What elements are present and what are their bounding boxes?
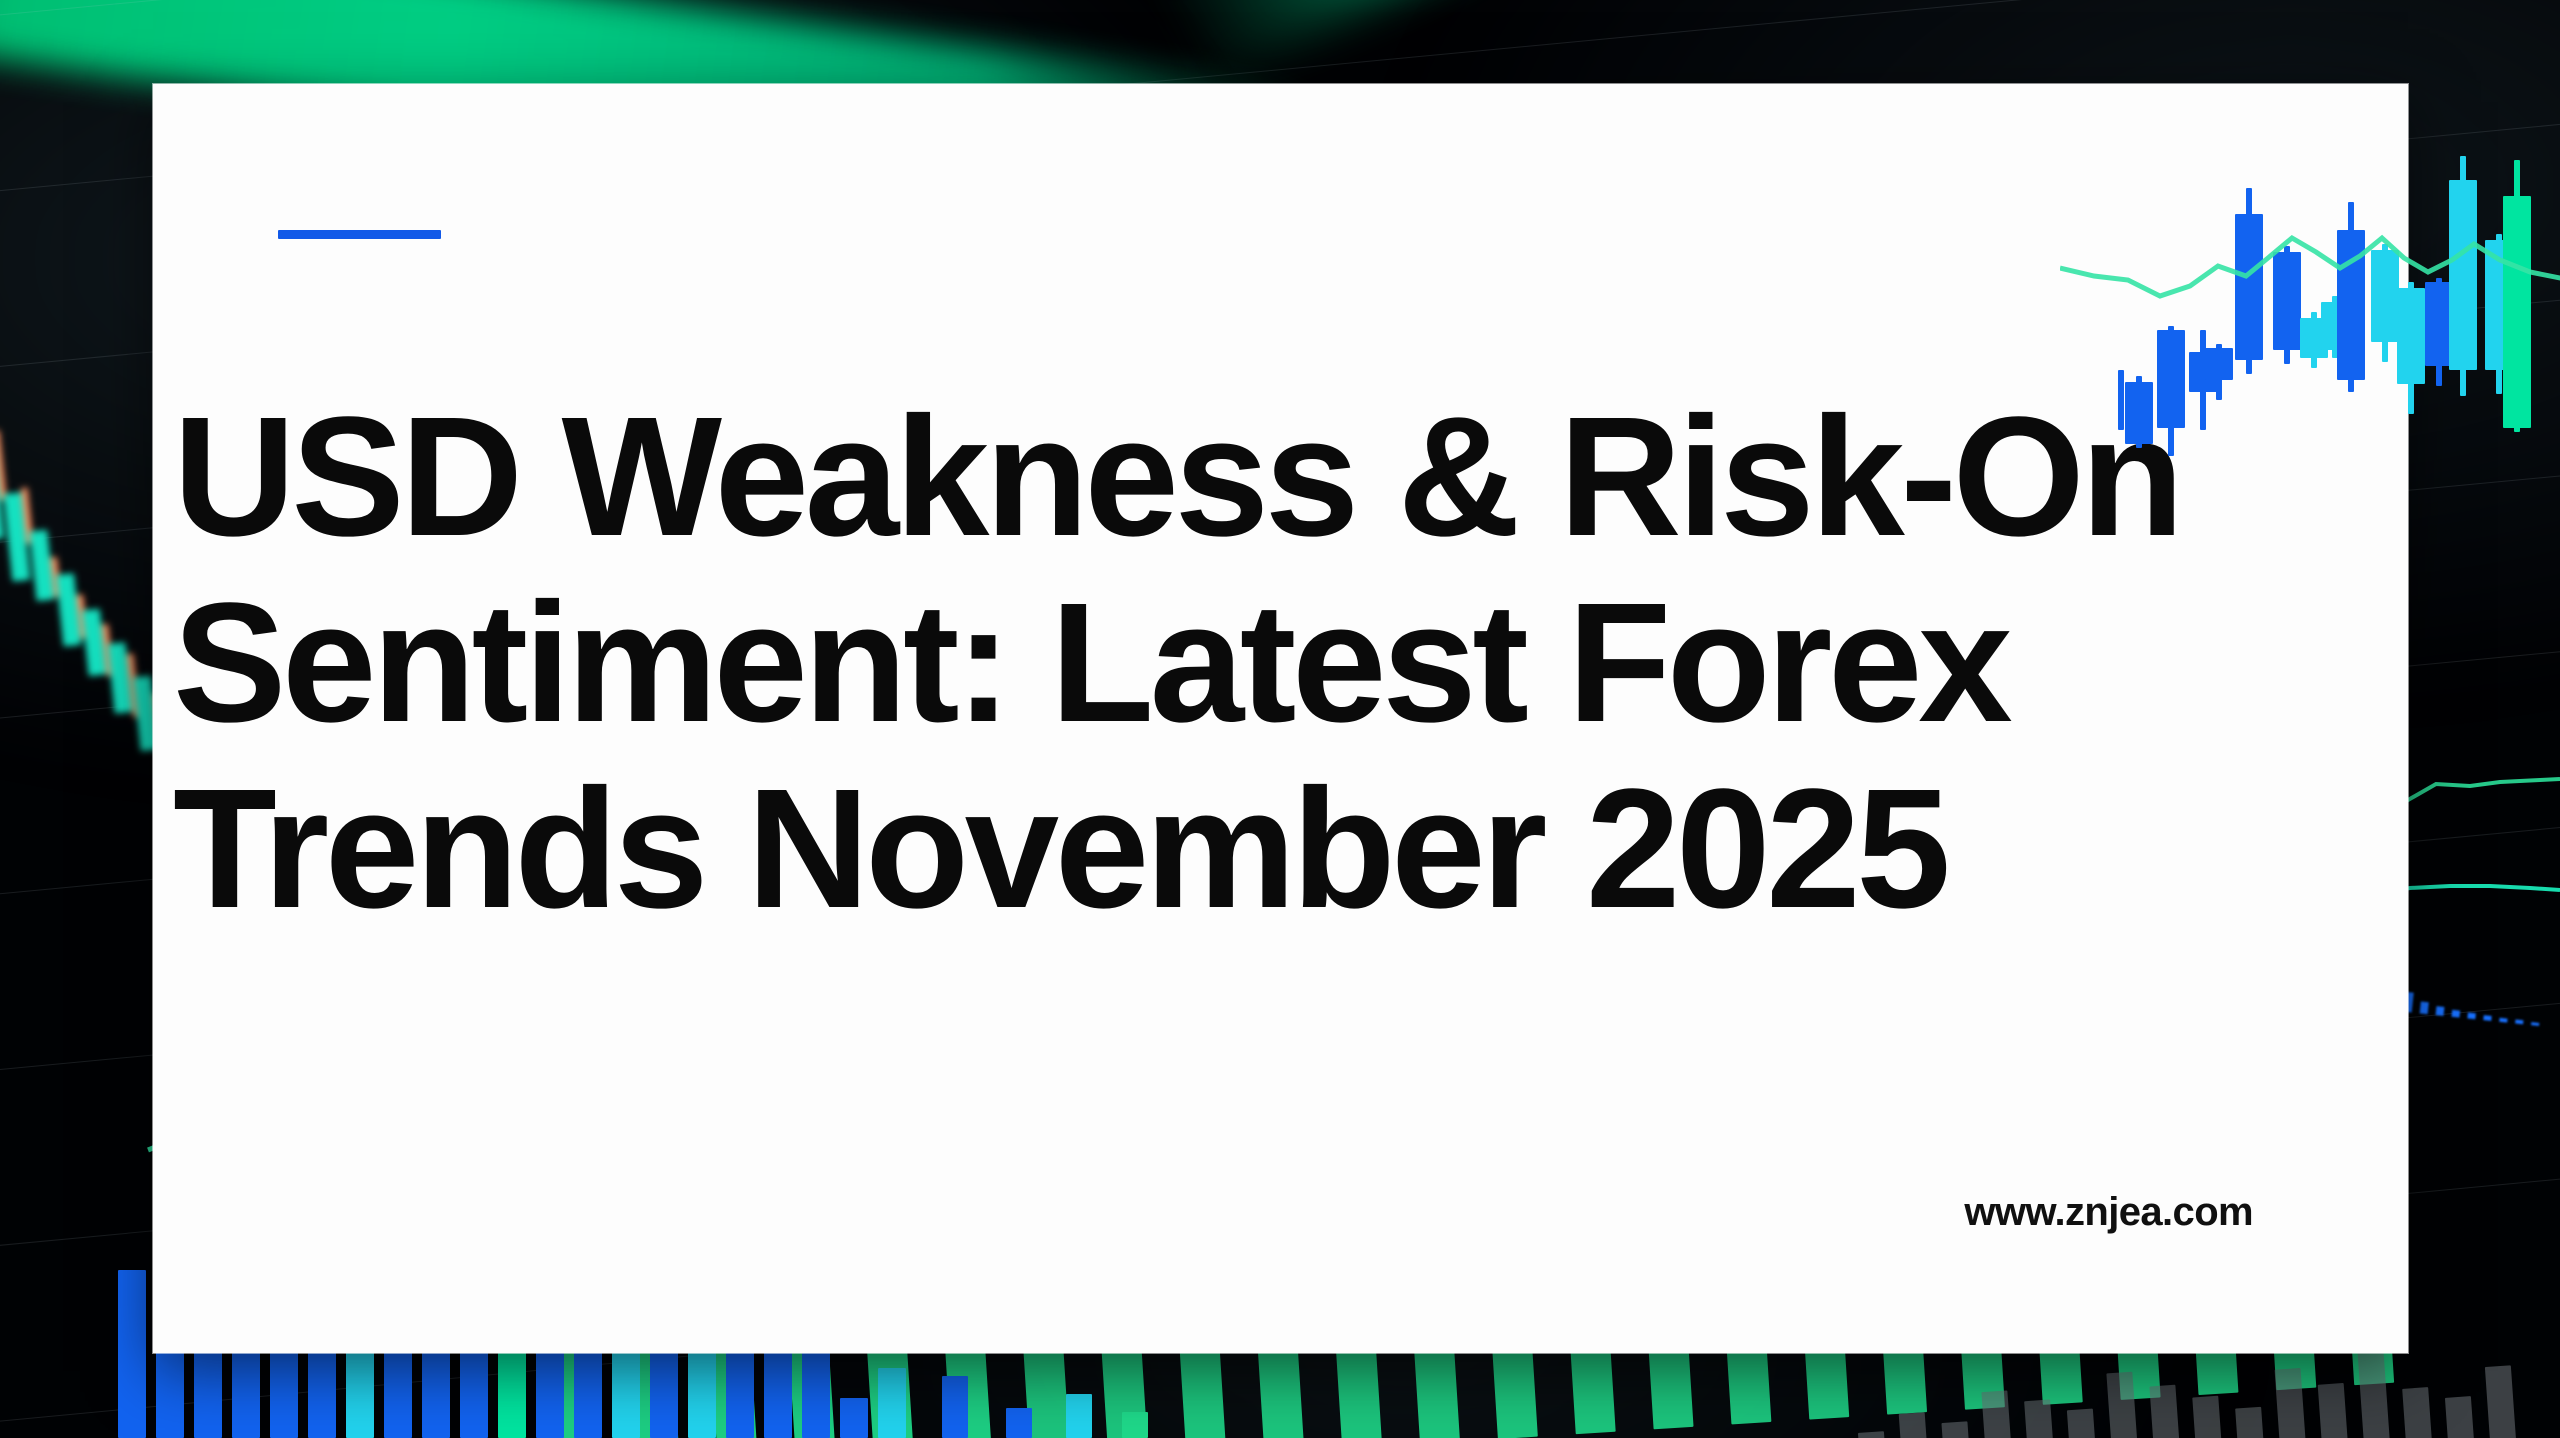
candle [0,430,7,500]
accent-rule [278,230,441,239]
volume-bar [2445,1396,2477,1438]
volume-bar [2358,1350,2394,1438]
tick-bar [2420,1001,2429,1014]
website-url: www.znjea.com [1964,1190,2253,1235]
volume-bar [2067,1409,2100,1438]
volume-bar [2235,1407,2267,1438]
tick-bar [2436,1006,2445,1016]
tick-bar [2451,1010,2460,1018]
volume-bar [2485,1365,2519,1438]
volume-bar [2275,1368,2310,1438]
volume-bar [2402,1387,2435,1438]
volume-bar [2318,1383,2352,1438]
content-card: USD Weakness & Risk-On Sentiment: Latest… [153,84,2408,1353]
volume-bar [1981,1390,2016,1438]
volume-bar [2024,1399,2058,1438]
page-title: USD Weakness & Risk-On Sentiment: Latest… [173,384,2253,942]
volume-bar [2106,1372,2141,1438]
gridline [0,0,2560,51]
volume-bar [2192,1396,2225,1438]
volume-bar [1858,1431,1890,1438]
tick-bar [2467,1012,2476,1019]
poster-canvas: USD Weakness & Risk-On Sentiment: Latest… [0,0,2560,1438]
volume-bar [1899,1412,1933,1438]
volume-bar [2149,1385,2183,1438]
tick-bar [2483,1015,2491,1021]
tick-bar [2499,1018,2507,1023]
volume-bar [1941,1421,1974,1438]
tick-bar [2515,1019,2523,1024]
